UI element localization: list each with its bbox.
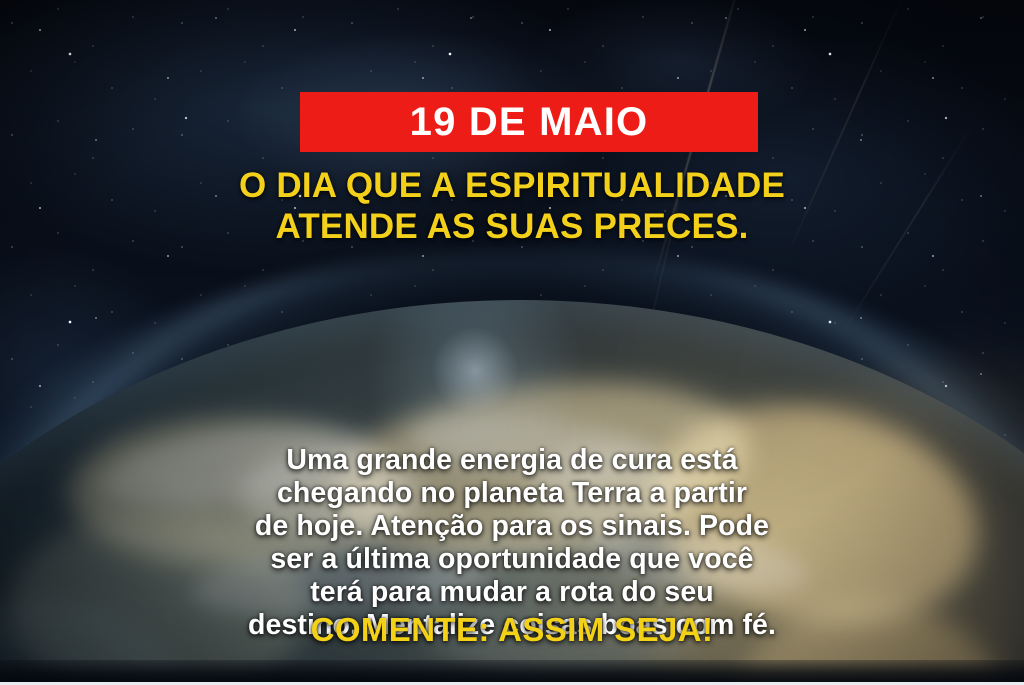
body-line-3: de hoje. Atenção para os sinais. Pode [50, 510, 974, 543]
date-banner: 19 DE MAIO [300, 92, 758, 152]
poster-canvas: 19 DE MAIO O DIA QUE A ESPIRITUALIDADE A… [0, 0, 1024, 685]
call-to-action-text: COMENTE: ASSIM SEJA! [0, 613, 1024, 646]
body-line-1: Uma grande energia de cura está [50, 444, 974, 477]
headline: O DIA QUE A ESPIRITUALIDADE ATENDE AS SU… [0, 166, 1024, 247]
date-banner-label: 19 DE MAIO [410, 102, 649, 142]
poster-content: 19 DE MAIO O DIA QUE A ESPIRITUALIDADE A… [0, 0, 1024, 685]
headline-line-1: O DIA QUE A ESPIRITUALIDADE [0, 166, 1024, 207]
body-line-2: chegando no planeta Terra a partir [50, 477, 974, 510]
body-line-5: terá para mudar a rota do seu [50, 576, 974, 609]
headline-line-2: ATENDE AS SUAS PRECES. [0, 207, 1024, 248]
body-line-4: ser a última oportunidade que você [50, 543, 974, 576]
bottom-fade-band [0, 660, 1024, 682]
